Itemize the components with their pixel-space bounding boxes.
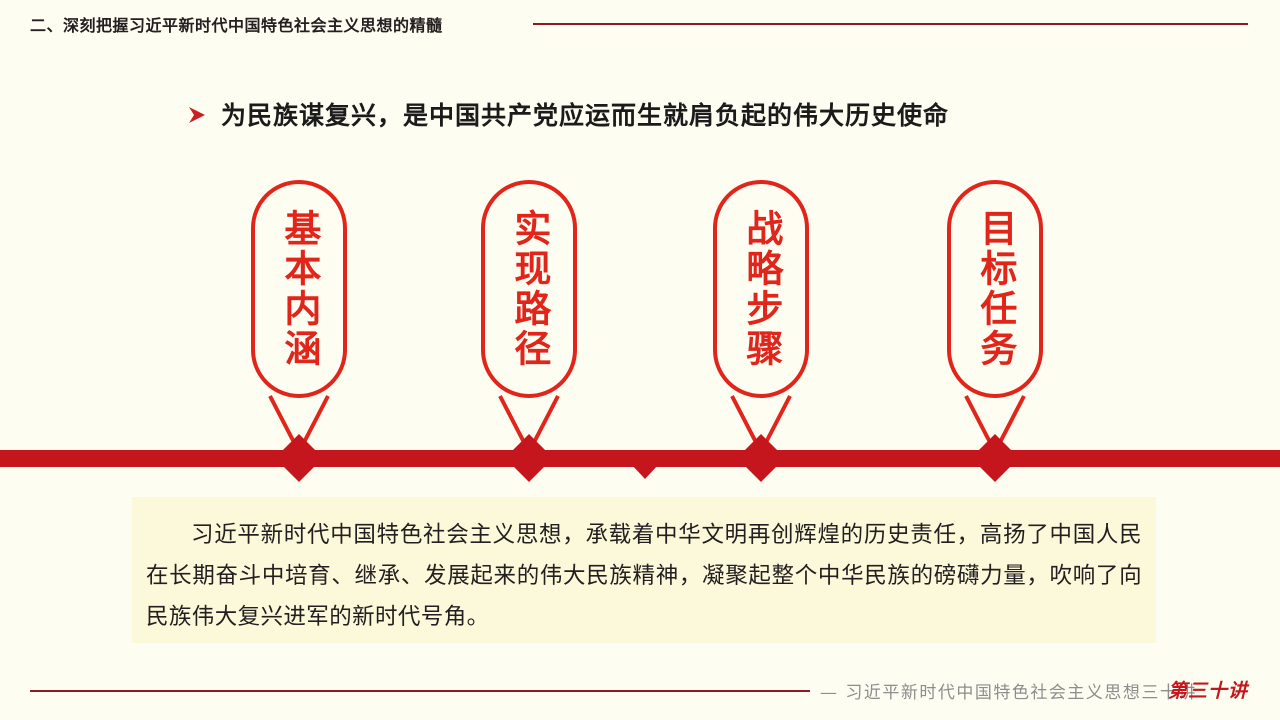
callout-bubble-3[interactable]: 战略步骤 — [713, 180, 809, 398]
callout-bubble-2[interactable]: 实现路径 — [481, 180, 577, 398]
callout-bubble-1[interactable]: 基本内涵 — [251, 180, 347, 398]
callout-bubble-label: 基本内涵 — [280, 209, 318, 369]
callout-bubble-label: 实现路径 — [510, 209, 548, 369]
footer-divider — [30, 690, 810, 692]
callout-bubble-label: 战略步骤 — [742, 209, 780, 369]
slide-header: 二、深刻把握习近平新时代中国特色社会主义思想的精髓 — [0, 0, 1280, 46]
arrow-bullet-icon — [186, 104, 208, 126]
page-title: 二、深刻把握习近平新时代中国特色社会主义思想的精髓 — [30, 12, 443, 36]
subtitle-text: 为民族谋复兴，是中国共产党应运而生就肩负起的伟大历史使命 — [221, 96, 949, 132]
footer-lecture-number: 第三十讲 — [1168, 676, 1248, 703]
callout-bubble-4[interactable]: 目标任务 — [947, 180, 1043, 398]
content-box: 习近平新时代中国特色社会主义思想，承载着中华文明再创辉煌的历史责任，高扬了中国人… — [132, 497, 1156, 643]
slide-canvas: 二、深刻把握习近平新时代中国特色社会主义思想的精髓 为民族谋复兴，是中国共产党应… — [0, 0, 1280, 720]
callout-bubble-label: 目标任务 — [976, 209, 1014, 369]
subtitle-row: 为民族谋复兴，是中国共产党应运而生就肩负起的伟大历史使命 — [186, 96, 949, 132]
footer-source-label: — 习近平新时代中国特色社会主义思想三十讲 — [820, 678, 1197, 703]
content-paragraph: 习近平新时代中国特色社会主义思想，承载着中华文明再创辉煌的历史责任，高扬了中国人… — [146, 515, 1142, 638]
timeline-bar — [0, 450, 1280, 467]
header-divider — [533, 23, 1248, 25]
